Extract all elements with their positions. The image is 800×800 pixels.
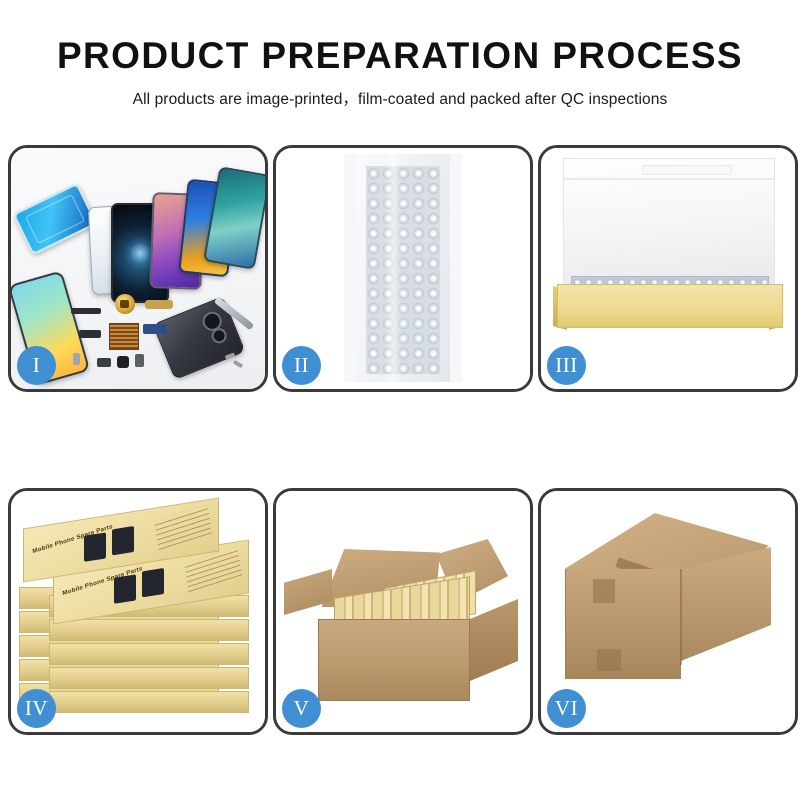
step-badge-1: I bbox=[17, 346, 56, 385]
step-card-3[interactable]: III bbox=[538, 145, 798, 392]
step-badge-4: IV bbox=[17, 689, 56, 728]
step-card-1[interactable]: I bbox=[8, 145, 268, 392]
box-layer-3r bbox=[49, 643, 249, 665]
page-subtitle: All products are image-printed，film-coat… bbox=[0, 87, 800, 109]
box-artwork-screen-3 bbox=[114, 574, 136, 603]
page-title: PRODUCT PREPARATION PROCESS bbox=[0, 36, 800, 77]
box-artwork-screen-2 bbox=[112, 526, 134, 555]
plastic-sheen bbox=[384, 154, 402, 382]
speaker-coil-part bbox=[115, 294, 135, 314]
box-stack: Mobile Phone Spare Parts Mobile Phone Sp… bbox=[17, 513, 257, 723]
blue-adhesive-frame bbox=[13, 183, 98, 256]
step-card-2[interactable]: II bbox=[273, 145, 533, 392]
camera-module-part bbox=[117, 356, 129, 368]
step-card-4[interactable]: Mobile Phone Spare Parts Mobile Phone Sp… bbox=[8, 488, 268, 735]
box-artwork-screen-4 bbox=[142, 568, 164, 597]
antenna-bar-part bbox=[71, 308, 101, 314]
battery-connector-part bbox=[135, 354, 144, 367]
screw-part-2 bbox=[233, 360, 244, 368]
sealed-carton-front-face bbox=[565, 569, 681, 679]
carton-tape-mark-2 bbox=[597, 649, 621, 671]
box-base-kraft bbox=[557, 284, 783, 328]
step-card-6[interactable]: VI bbox=[538, 488, 798, 735]
bubble-wrap-pouch bbox=[344, 154, 462, 382]
flex-cable-gold-part bbox=[145, 300, 173, 309]
carton-side-face bbox=[470, 599, 518, 681]
step-badge-3: III bbox=[547, 346, 586, 385]
step-badge-6: VI bbox=[547, 689, 586, 728]
box-spec-lines-1 bbox=[154, 504, 212, 550]
box-layer-2r bbox=[49, 619, 249, 641]
product-preparation-process-page: PRODUCT PREPARATION PROCESS All products… bbox=[0, 0, 800, 800]
box-artwork-screen-1 bbox=[84, 532, 106, 561]
box-layer-5r bbox=[49, 691, 249, 713]
box-lid-tab bbox=[642, 165, 732, 175]
speaker-part bbox=[97, 358, 111, 367]
flex-cable-dark-part bbox=[79, 330, 101, 338]
carton-tape-mark-1 bbox=[593, 579, 615, 603]
box-layer-4r bbox=[49, 667, 249, 689]
carton-vertical-edge bbox=[680, 569, 682, 665]
copper-grid-part bbox=[109, 323, 139, 350]
step-badge-5: V bbox=[282, 689, 321, 728]
bubble-texture bbox=[366, 166, 440, 374]
step-badge-2: II bbox=[282, 346, 321, 385]
process-steps-grid: I II III bbox=[8, 145, 792, 735]
flex-cable-blue-part bbox=[143, 324, 167, 334]
carton-flap-left bbox=[284, 569, 332, 615]
box-lid-fold bbox=[563, 178, 775, 180]
page-header: PRODUCT PREPARATION PROCESS All products… bbox=[0, 0, 800, 109]
carton-front-face bbox=[318, 619, 470, 701]
side-button-part bbox=[73, 353, 80, 365]
step-card-5[interactable]: V bbox=[273, 488, 533, 735]
